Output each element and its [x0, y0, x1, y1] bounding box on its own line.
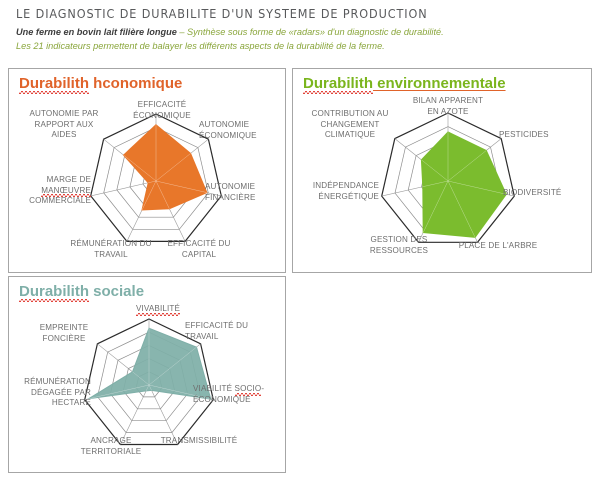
subtitle-farm-label: Une ferme en bovin lait filière longue: [16, 27, 177, 37]
axis-label-env-1: PESTICIDES: [499, 130, 573, 141]
page-title: LE DIAGNOSTIC DE DURABILITE D'UN SYSTEME…: [16, 6, 428, 21]
axis-label-soc-6: EMPREINTE FONCIÈRE: [25, 323, 103, 344]
panel-title-economique-word1: Durabilith: [19, 75, 89, 92]
slide-page: LE DIAGNOSTIC DE DURABILITE D'UN SYSTEME…: [0, 0, 600, 483]
panel-durabilite-sociale: Durabilith sociale VIVABILITÉ EFFICACITÉ…: [8, 276, 286, 473]
axis-label-env-4: GESTION DES RESSOURCES: [359, 235, 439, 256]
axis-label-soc-2: VIABILITÉ SOCIO- ÉCONOMIQUE: [193, 384, 281, 405]
axis-label-env-0: BILAN APPARENT EN AZOTE: [405, 96, 491, 117]
axis-label-eco-2: AUTONOMIE FINANCIÈRE: [205, 182, 283, 203]
panel-title-economique-word2: hconomique: [89, 75, 182, 92]
axis-label-eco-1: AUTONOMIE ÉCONOMIQUE: [199, 120, 279, 141]
panel-durabilite-economique: Durabilith hconomique EFFICACITÉ ÉCONOMI…: [8, 68, 286, 273]
panel-title-environnementale-word1: Durabilith: [303, 75, 373, 92]
panel-title-sociale: Durabilith sociale: [19, 283, 144, 300]
subtitle-line-2: Les 21 indicateurs permettent de balayer…: [16, 41, 385, 51]
axis-label-env-6: CONTRIBUTION AU CHANGEMENT CLIMATIQUE: [307, 109, 393, 141]
axis-label-soc-0: VIVABILITÉ: [121, 304, 195, 315]
axis-label-env-5: INDÉPENDANCE ÉNERGÉTIQUE: [297, 181, 379, 202]
axis-label-soc-1: EFFICACITÉ DU TRAVAIL: [185, 321, 271, 342]
axis-label-env-2: BIODIVERSITÉ: [503, 188, 585, 199]
axis-label-eco-3: EFFICACITÉ DU CAPITAL: [159, 239, 239, 260]
axis-label-eco-4: RÉMUNÉRATION DU TRAVAIL: [63, 239, 159, 260]
panel-title-sociale-word2: sociale: [89, 283, 144, 300]
panel-title-sociale-word1: Durabilith: [19, 283, 89, 300]
axis-label-eco-0: EFFICACITÉ ÉCONOMIQUE: [121, 100, 203, 121]
subtitle-description: Synthèse sous forme de «radars» d'un dia…: [187, 27, 444, 37]
axis-label-eco-5: MARGE DE MANŒUVRE COMMERCIALE: [11, 175, 91, 207]
panel-title-environnementale: Durabilith environnementale: [303, 75, 506, 92]
axis-label-eco-6: AUTONOMIE PAR RAPPORT AUX AIDES: [23, 109, 105, 141]
axis-label-soc-4: ANCRAGE TERRITORIALE: [71, 436, 151, 457]
panel-title-economique: Durabilith hconomique: [19, 75, 182, 92]
axis-label-env-3: PLACE DE L'ARBRE: [450, 241, 546, 252]
axis-label-soc-3: TRANSMISSIBILITÉ: [151, 436, 247, 447]
subtitle-dash: –: [177, 27, 187, 37]
panel-title-environnementale-word2: environnementale: [373, 75, 506, 92]
axis-label-soc-5: RÉMUNÉRATION DÉGAGÉE PAR HECTARE: [11, 377, 91, 409]
subtitle-line-1: Une ferme en bovin lait filière longue –…: [16, 27, 444, 37]
panel-durabilite-environnementale: Durabilith environnementale BILAN APPARE…: [292, 68, 592, 273]
